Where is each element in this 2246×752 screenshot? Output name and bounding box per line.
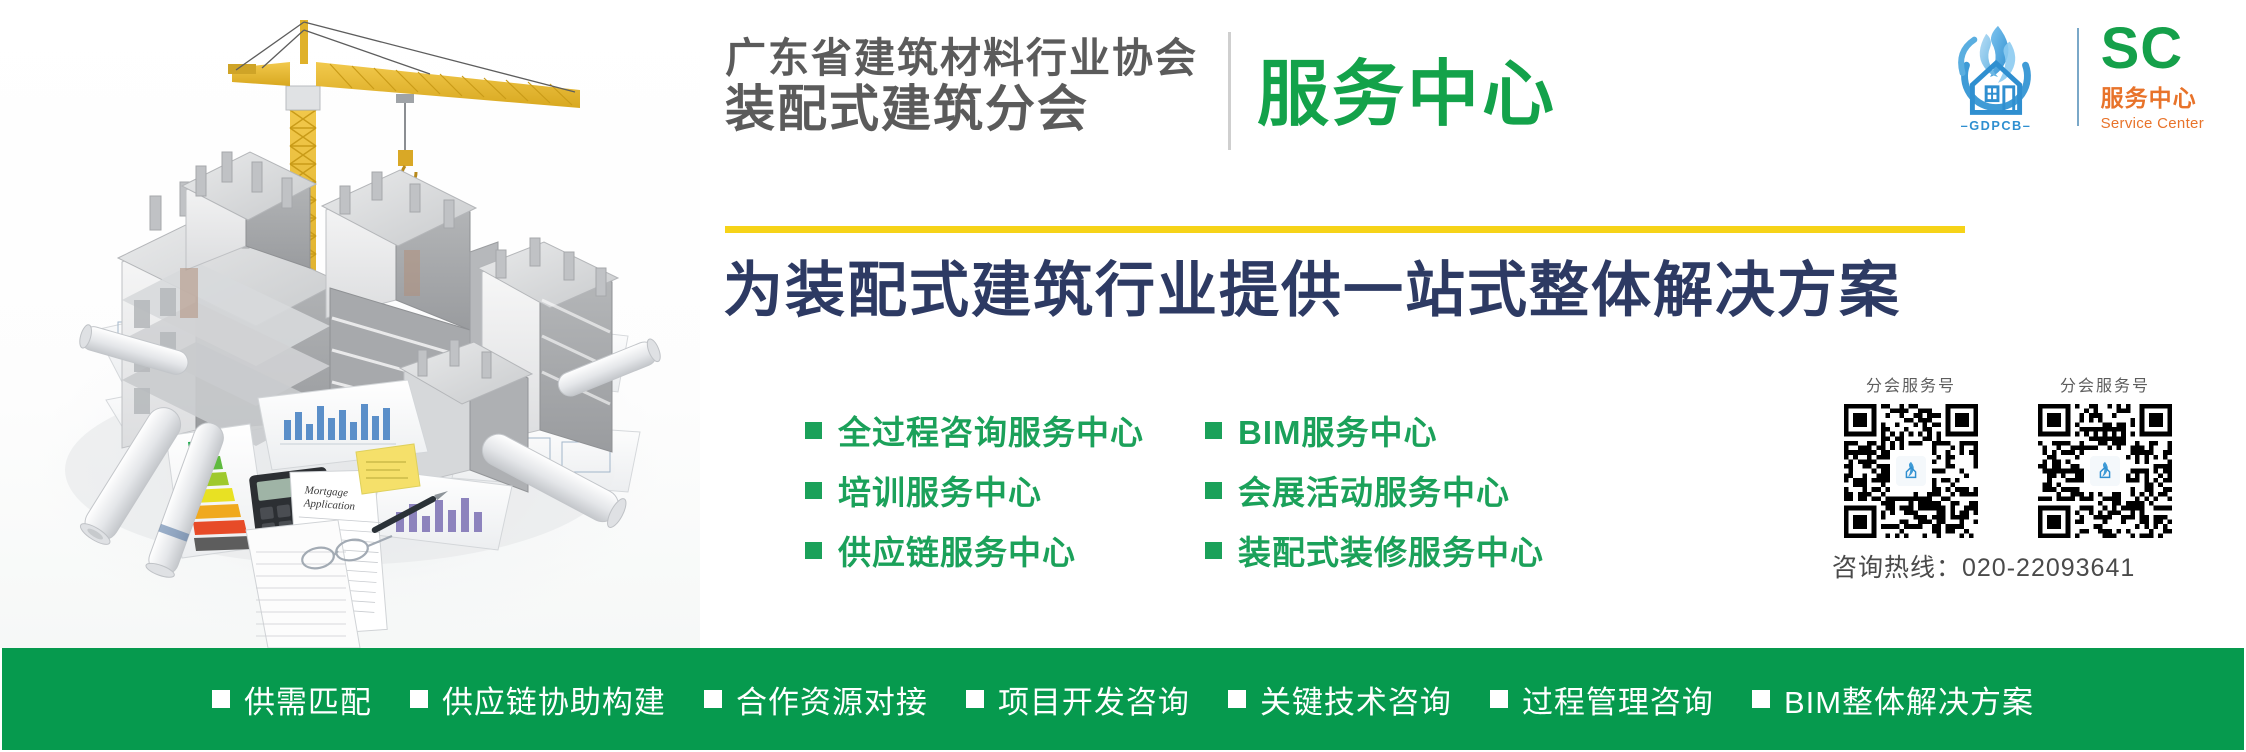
square-bullet-icon (1205, 542, 1222, 559)
square-bullet-icon (1752, 690, 1770, 708)
service-item-bim[interactable]: BIM服务中心 (1100, 400, 1500, 460)
qr-cell-2: 分会服务号 (2024, 372, 2186, 538)
gdpcb-logo-caption: –GDPCB– (1960, 118, 2031, 133)
building-construction-scene: Mortgage Application (0, 0, 700, 648)
bar-item-label: 合作资源对接 (736, 677, 928, 722)
bar-item-bim-solution[interactable]: BIM整体解决方案 (1752, 677, 2034, 722)
tagline: 为装配式建筑行业提供一站式整体解决方案 (723, 258, 1901, 324)
sc-brand-block: SC 服务中心 Service Center (2101, 22, 2204, 132)
bar-item-label: 供需匹配 (244, 677, 372, 722)
qr-label: 分会服务号 (2024, 372, 2186, 396)
association-line2: 装配式建筑分会 (725, 83, 1198, 135)
bar-item-cooperation[interactable]: 合作资源对接 (704, 677, 928, 722)
title-divider (1228, 32, 1231, 150)
qr-code-image-2[interactable] (2038, 404, 2172, 538)
service-item-huizhan[interactable]: 会展活动服务中心 (1100, 460, 1500, 520)
service-item-peixun[interactable]: 培训服务中心 (700, 460, 1100, 520)
bar-item-project-dev[interactable]: 项目开发咨询 (966, 677, 1190, 722)
square-bullet-icon (1205, 422, 1222, 439)
promotional-banner: Mortgage Application (0, 0, 2246, 752)
sc-letters: SC (2101, 22, 2204, 75)
bar-item-label: 过程管理咨询 (1522, 677, 1714, 722)
bottom-service-bar: 供需匹配 供应链协助构建 合作资源对接 项目开发咨询 关键技术咨询 过程管理咨询… (2, 648, 2244, 750)
square-bullet-icon (1490, 690, 1508, 708)
gdpcb-mini-logo-icon (2094, 460, 2116, 482)
sc-english-label: Service Center (2101, 115, 2204, 132)
service-item-label: 会展活动服务中心 (1238, 466, 1510, 514)
service-center-title: 服务中心 (1257, 59, 1557, 131)
square-bullet-icon (966, 690, 984, 708)
association-line1: 广东省建筑材料行业协会 (725, 37, 1198, 80)
brand-divider (2077, 28, 2079, 126)
bar-item-label: 关键技术咨询 (1260, 677, 1452, 722)
square-bullet-icon (805, 482, 822, 499)
square-bullet-icon (1205, 482, 1222, 499)
brand-logo-group: –GDPCB– SC 服务中心 Service Center (1937, 14, 2204, 140)
service-item-label: 培训服务中心 (838, 466, 1042, 514)
gdpcb-flame-house-icon: –GDPCB– (1937, 18, 2055, 136)
qr-cell-1: 分会服务号 (1830, 372, 1992, 538)
content-area: 广东省建筑材料行业协会 装配式建筑分会 服务中心 (700, 0, 2246, 648)
bar-item-supply-chain[interactable]: 供应链协助构建 (410, 677, 666, 722)
square-bullet-icon (1228, 690, 1246, 708)
hotline-text: 咨询热线：020-22093641 (1830, 548, 2218, 584)
bar-item-label: 项目开发咨询 (998, 677, 1190, 722)
bar-item-label: 供应链协助构建 (442, 677, 666, 722)
service-center-list: 全过程咨询服务中心 BIM服务中心 培训服务中心 会展活动服务中心 供应链服务中… (700, 400, 1760, 580)
square-bullet-icon (212, 690, 230, 708)
hero-illustration: Mortgage Application (0, 0, 700, 648)
gold-divider-rule (725, 226, 1965, 233)
square-bullet-icon (410, 690, 428, 708)
title-row: 广东省建筑材料行业协会 装配式建筑分会 服务中心 (725, 22, 1557, 150)
qr-contact-block: 分会服务号 分会服务号 (1830, 372, 2218, 584)
qr-row: 分会服务号 分会服务号 (1830, 372, 2218, 538)
qr-label: 分会服务号 (1830, 372, 1992, 396)
square-bullet-icon (704, 690, 722, 708)
bar-item-key-tech[interactable]: 关键技术咨询 (1228, 677, 1452, 722)
gdpcb-logo: –GDPCB– (1937, 18, 2055, 136)
sc-chinese-label: 服务中心 (2101, 79, 2204, 113)
gdpcb-mini-logo-icon (1900, 460, 1922, 482)
bar-item-label: BIM整体解决方案 (1784, 677, 2034, 722)
service-item-gongyinglian[interactable]: 供应链服务中心 (700, 520, 1100, 580)
qr-center-logo (1896, 456, 1926, 486)
association-name: 广东省建筑材料行业协会 装配式建筑分会 (725, 37, 1198, 136)
service-item-label: 全过程咨询服务中心 (838, 406, 1144, 454)
service-item-zhuangxiu[interactable]: 装配式装修服务中心 (1100, 520, 1500, 580)
service-item-label: 供应链服务中心 (838, 526, 1076, 574)
square-bullet-icon (805, 422, 822, 439)
bar-item-supply-demand[interactable]: 供需匹配 (212, 677, 372, 722)
square-bullet-icon (805, 542, 822, 559)
service-item-label: 装配式装修服务中心 (1238, 526, 1544, 574)
qr-center-logo (2090, 456, 2120, 486)
service-item-quanguocheng[interactable]: 全过程咨询服务中心 (700, 400, 1100, 460)
bar-item-process-mgmt[interactable]: 过程管理咨询 (1490, 677, 1714, 722)
qr-code-image-1[interactable] (1844, 404, 1978, 538)
service-item-label: BIM服务中心 (1238, 406, 1438, 454)
